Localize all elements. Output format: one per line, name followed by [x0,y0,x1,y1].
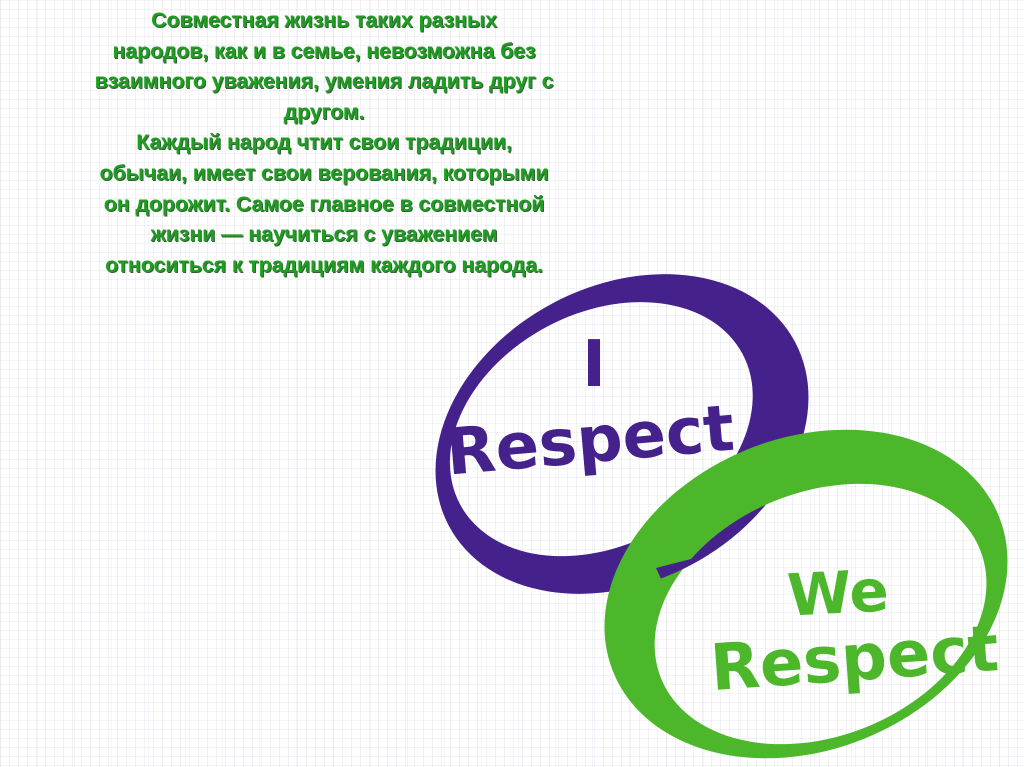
i-respect-we-respect-logo: I Respect We Respect [404,276,1024,746]
logo-word-i: I [582,328,606,402]
paragraph-one: Совместная жизнь таких разных народов, к… [14,5,634,127]
slide-canvas: Совместная жизнь таких разных народов, к… [0,0,1024,767]
logo-word-we: We [786,556,891,629]
